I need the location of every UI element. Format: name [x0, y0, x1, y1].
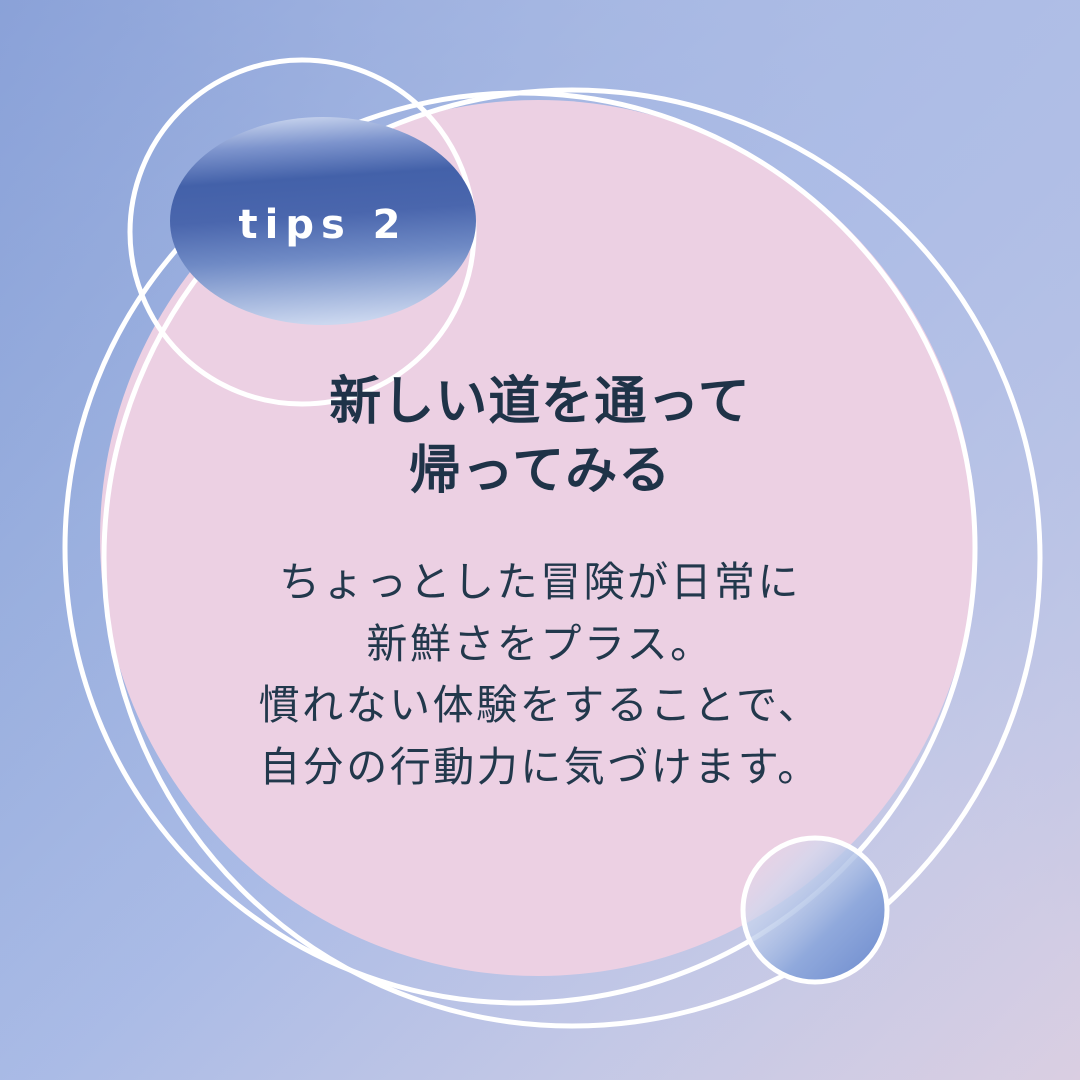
- body-line-2: 新鮮さをプラス。: [140, 614, 940, 676]
- title-line-2: 帰ってみる: [140, 437, 940, 506]
- text-layer: tips 2 新しい道を通って 帰ってみる ちょっとした冒険が日常に 新鮮さをプ…: [0, 0, 1080, 1080]
- tips-card: tips 2 新しい道を通って 帰ってみる ちょっとした冒険が日常に 新鮮さをプ…: [0, 0, 1080, 1080]
- body-line-3: 慣れない体験をすることで、: [140, 675, 940, 737]
- body-text: ちょっとした冒険が日常に 新鮮さをプラス。 慣れない体験をすることで、 自分の行…: [140, 552, 940, 798]
- page-title: 新しい道を通って 帰ってみる: [140, 368, 940, 506]
- tips-badge-label: tips 2: [170, 205, 476, 245]
- title-line-1: 新しい道を通って: [140, 368, 940, 437]
- body-line-1: ちょっとした冒険が日常に: [140, 552, 940, 614]
- body-line-4: 自分の行動力に気づけます。: [140, 737, 940, 799]
